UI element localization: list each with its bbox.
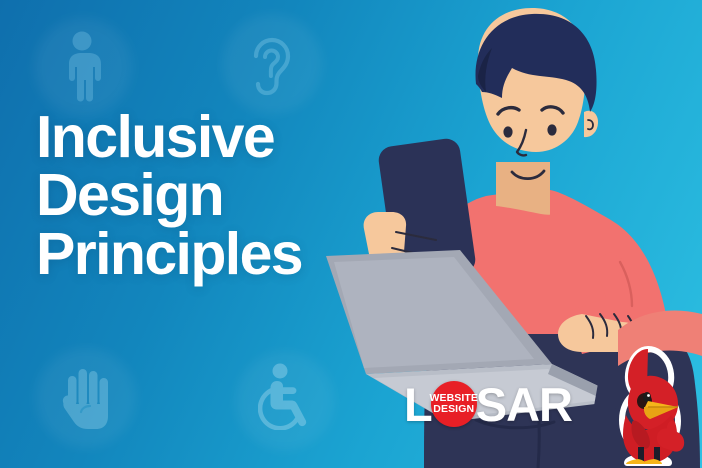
person-icon (56, 30, 108, 104)
logo[interactable]: L WEBSITE DESIGN SAR (404, 378, 572, 430)
logo-badge-line2: DESIGN (433, 404, 474, 416)
cardinal-bird-mascot (604, 343, 696, 468)
logo-badge: WEBSITE DESIGN (431, 381, 477, 427)
banner-image: Inclusive Design Principles (0, 0, 702, 468)
hand-icon (60, 362, 116, 432)
logo-suffix: SAR (476, 381, 572, 428)
ear-icon (242, 26, 298, 102)
logo-prefix: L (404, 381, 432, 428)
